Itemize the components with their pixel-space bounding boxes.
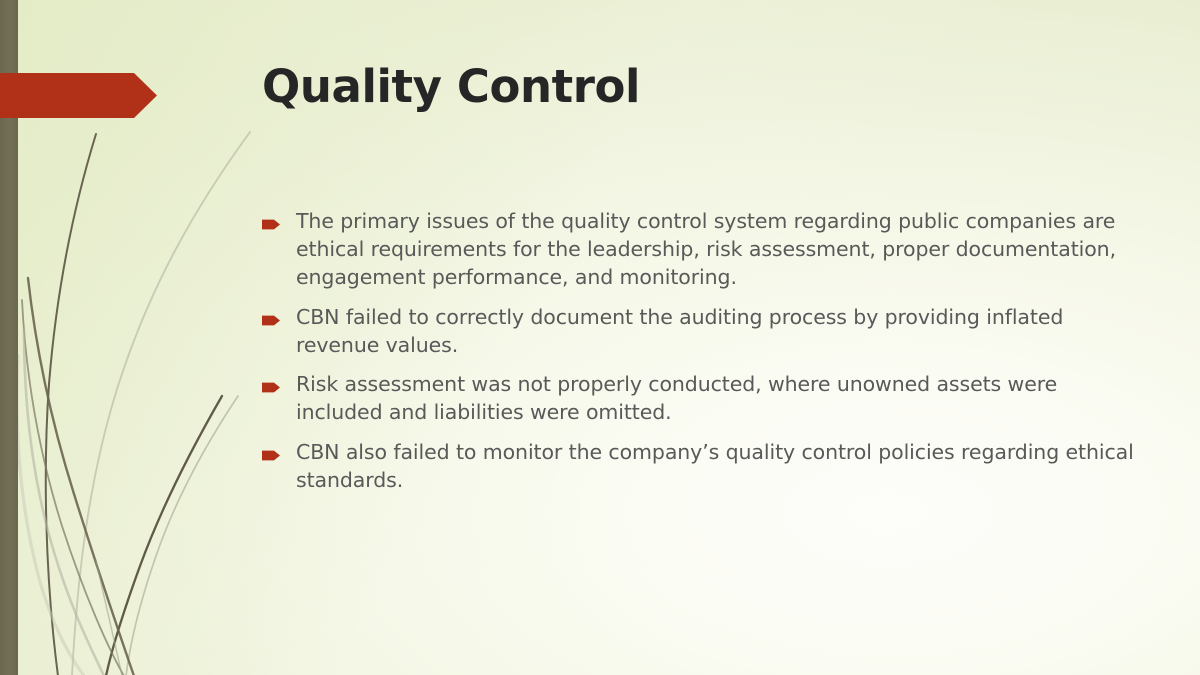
red-pennant-bullet-icon (262, 315, 280, 326)
slide-body-bullet-list: The primary issues of the quality contro… (262, 208, 1134, 495)
bullet-item-text: CBN failed to correctly document the aud… (296, 304, 1134, 360)
red-pennant-bullet-icon (262, 382, 280, 393)
red-pennant-bullet-icon (262, 219, 280, 230)
red-arrow-banner (0, 73, 157, 118)
bullet-item-text: Risk assessment was not properly conduct… (296, 371, 1134, 427)
presentation-slide: Quality Control The primary issues of th… (0, 0, 1200, 675)
bullet-item: Risk assessment was not properly conduct… (262, 371, 1134, 427)
bullet-item: CBN also failed to monitor the company’s… (262, 439, 1134, 495)
slide-title: Quality Control (262, 62, 1082, 112)
bullet-item-text: The primary issues of the quality contro… (296, 208, 1134, 292)
bullet-item-text: CBN also failed to monitor the company’s… (296, 439, 1134, 495)
bullet-item: CBN failed to correctly document the aud… (262, 304, 1134, 360)
bullet-item: The primary issues of the quality contro… (262, 208, 1134, 292)
red-pennant-bullet-icon (262, 450, 280, 461)
